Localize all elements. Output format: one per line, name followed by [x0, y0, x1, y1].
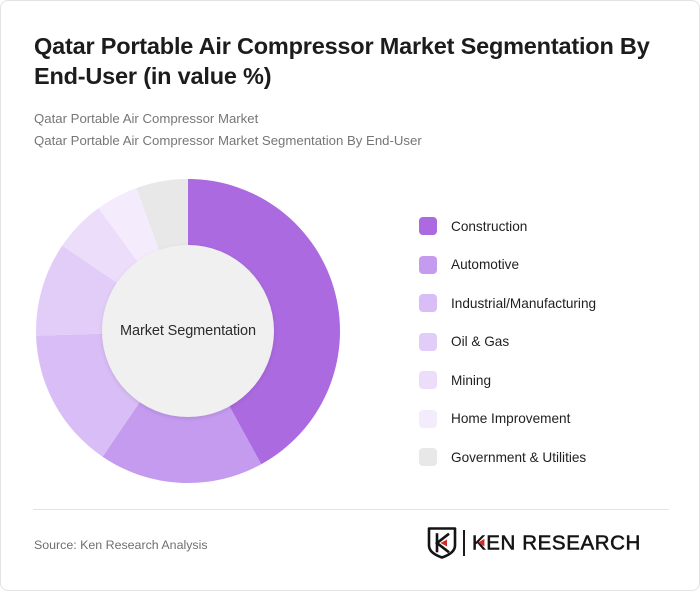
brand-divider	[463, 530, 465, 556]
legend-item-label: Construction	[451, 219, 527, 234]
legend-swatch-icon	[419, 333, 437, 351]
subtitle-line-market: Qatar Portable Air Compressor Market	[34, 108, 668, 129]
legend-item-label: Industrial/Manufacturing	[451, 296, 596, 311]
legend-item[interactable]: Oil & Gas	[419, 323, 669, 362]
legend-item-label: Oil & Gas	[451, 334, 509, 349]
page-title: Qatar Portable Air Compressor Market Seg…	[34, 31, 668, 91]
legend-swatch-icon	[419, 448, 437, 466]
legend-swatch-icon	[419, 217, 437, 235]
legend-item[interactable]: Home Improvement	[419, 400, 669, 439]
donut-chart: Construction: 42%Automotive: 17.5%Indust…	[33, 176, 343, 486]
brand-logo: KEN RESEARCH	[427, 526, 668, 560]
legend-item[interactable]: Construction	[419, 207, 669, 246]
legend-item-label: Automotive	[451, 257, 519, 272]
chart-legend: ConstructionAutomotiveIndustrial/Manufac…	[419, 207, 669, 477]
legend-item[interactable]: Government & Utilities	[419, 438, 669, 477]
chart-card: Qatar Portable Air Compressor Market Seg…	[0, 0, 700, 591]
legend-item[interactable]: Automotive	[419, 246, 669, 285]
legend-item-label: Mining	[451, 373, 491, 388]
legend-item-label: Home Improvement	[451, 411, 570, 426]
legend-swatch-icon	[419, 410, 437, 428]
chart-header: Qatar Portable Air Compressor Market Seg…	[34, 31, 668, 151]
donut-chart-svg: Construction: 42%Automotive: 17.5%Indust…	[33, 176, 343, 486]
svg-text:KEN RESEARCH: KEN RESEARCH	[472, 532, 641, 555]
ken-research-wordmark: KEN RESEARCH	[472, 531, 668, 555]
chart-area: Construction: 42%Automotive: 17.5%Indust…	[1, 171, 700, 501]
footer-divider	[33, 509, 669, 510]
legend-item[interactable]: Mining	[419, 361, 669, 400]
legend-swatch-icon	[419, 294, 437, 312]
legend-swatch-icon	[419, 256, 437, 274]
legend-item-label: Government & Utilities	[451, 450, 586, 465]
legend-swatch-icon	[419, 371, 437, 389]
ken-research-shield-icon	[427, 527, 457, 559]
source-note: Source: Ken Research Analysis	[34, 538, 208, 552]
legend-item[interactable]: Industrial/Manufacturing	[419, 284, 669, 323]
subtitle-block: Qatar Portable Air Compressor Market Qat…	[34, 108, 668, 151]
donut-center-circle	[102, 245, 274, 417]
subtitle-line-segmentation: Qatar Portable Air Compressor Market Seg…	[34, 130, 668, 151]
